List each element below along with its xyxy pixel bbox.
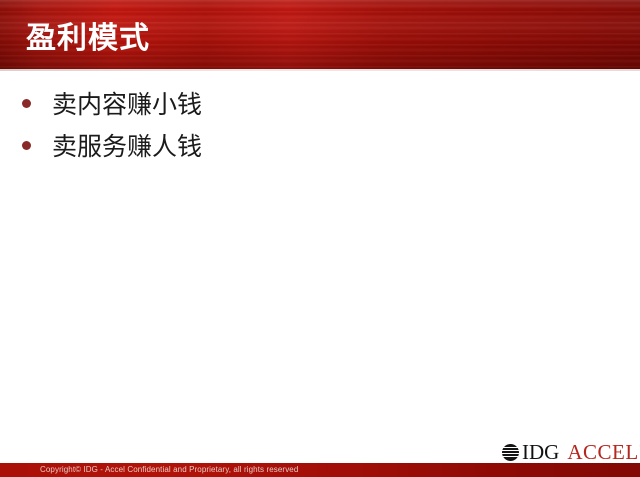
logo-primary-text: IDG (522, 441, 559, 463)
list-item: 卖内容赚小钱 (22, 88, 582, 130)
bullet-list: 卖内容赚小钱 卖服务赚人钱 (22, 88, 582, 172)
banner-underline-divider (0, 69, 640, 71)
globe-latitude-line (500, 450, 521, 451)
idg-accel-logo: IDG ACCEL ® (500, 441, 640, 463)
globe-latitude-line (500, 453, 521, 454)
slide-title: 盈利模式 (26, 21, 150, 57)
logo-secondary-text: ACCEL (567, 441, 638, 463)
bullet-item-label: 卖内容赚小钱 (52, 88, 202, 122)
presentation-slide: 盈利模式 卖内容赚小钱 卖服务赚人钱 IDG ACCEL ® Copyright… (0, 0, 640, 477)
globe-latitude-line (503, 456, 518, 457)
bullet-item-label: 卖服务赚人钱 (52, 130, 202, 164)
round-bullet-icon (22, 141, 31, 150)
copyright-notice: Copyright© IDG - Accel Confidential and … (40, 464, 298, 476)
globe-icon (500, 443, 521, 462)
list-item: 卖服务赚人钱 (22, 130, 582, 172)
round-bullet-icon (22, 99, 31, 108)
globe-latitude-line (503, 447, 518, 448)
